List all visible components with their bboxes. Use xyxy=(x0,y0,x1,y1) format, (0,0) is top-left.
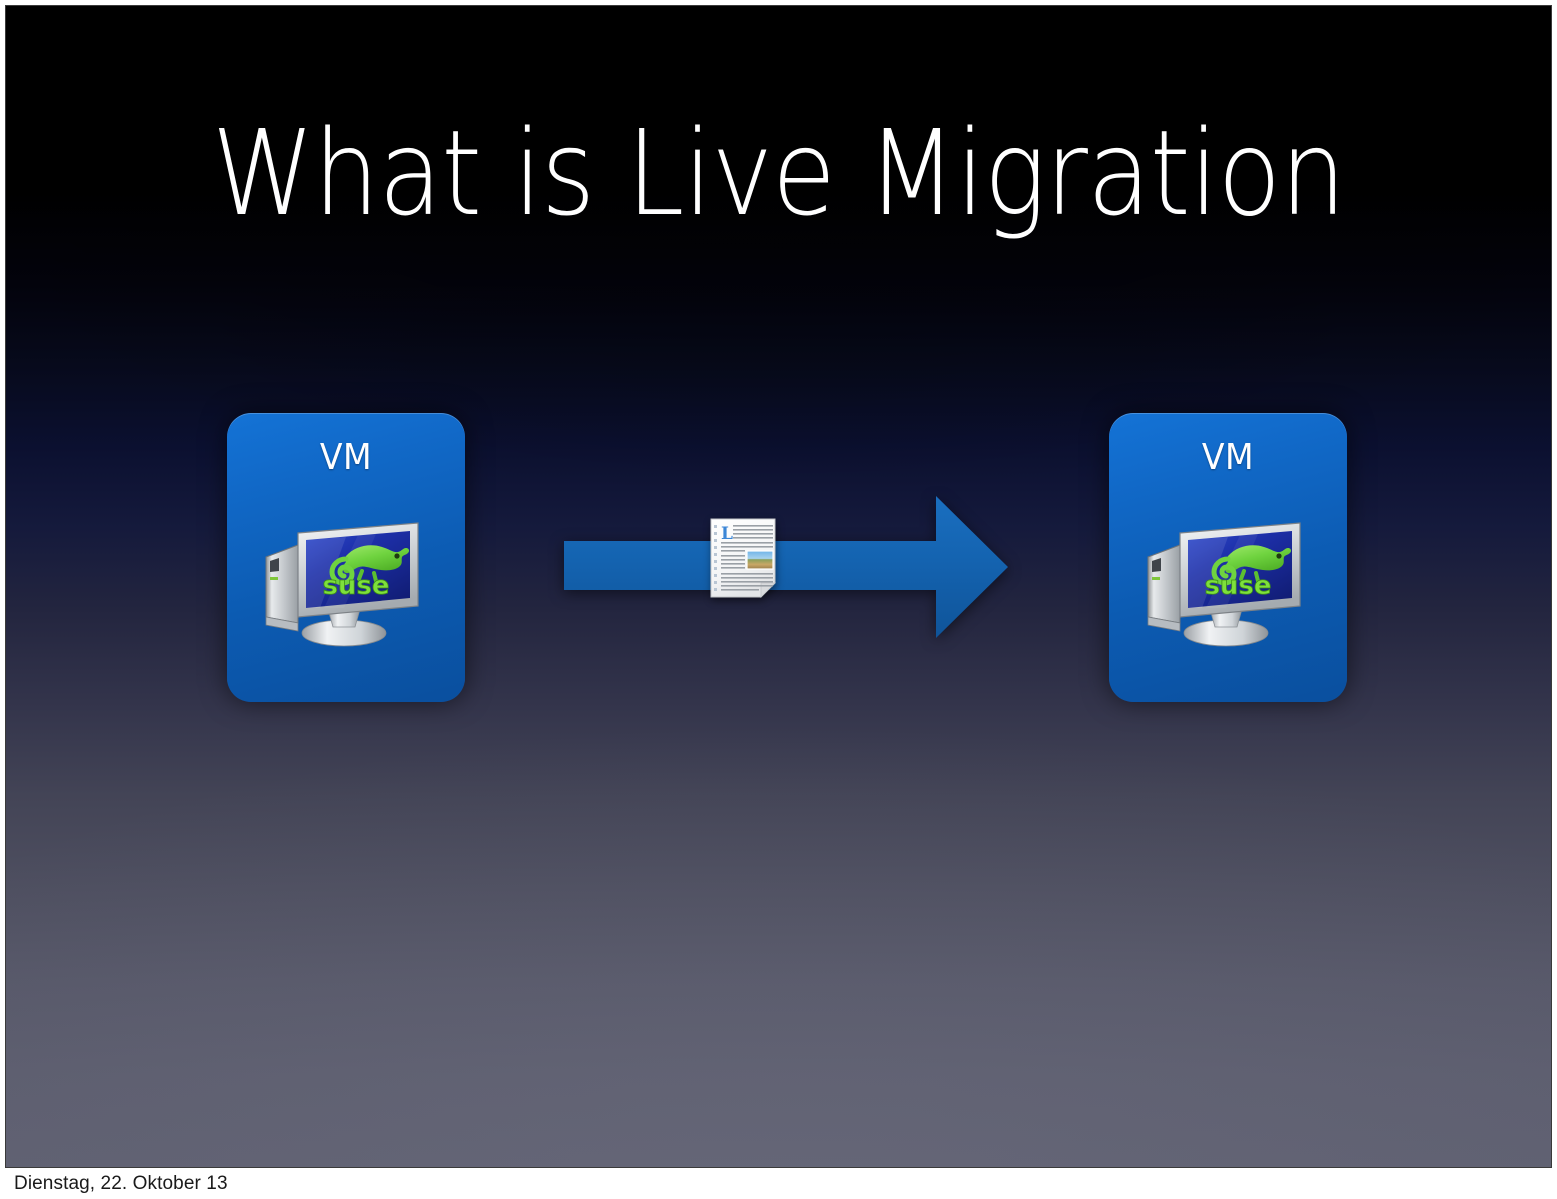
vm-label-target: VM xyxy=(1119,437,1338,478)
presentation-slide: What is Live Migration VM xyxy=(5,5,1552,1168)
vm-label-source: VM xyxy=(237,437,456,478)
footer-date: Dienstag, 22. Oktober 13 xyxy=(14,1173,228,1195)
right-arrow-icon xyxy=(562,494,1010,640)
vm-card-target[interactable]: VM xyxy=(1109,413,1347,702)
svg-text:L: L xyxy=(721,524,733,544)
vm-card-source[interactable]: VM xyxy=(227,413,465,702)
slide-footer: Dienstag, 22. Oktober 13 xyxy=(0,1170,1557,1199)
document-icon: L xyxy=(709,517,779,599)
suse-computer-icon: suse xyxy=(1140,509,1316,651)
page-title: What is Live Migration xyxy=(99,114,1459,232)
suse-computer-icon: suse xyxy=(258,509,434,651)
slide-viewer: What is Live Migration VM xyxy=(0,0,1557,1199)
svg-text:suse: suse xyxy=(322,571,389,601)
svg-text:suse: suse xyxy=(1204,571,1271,601)
